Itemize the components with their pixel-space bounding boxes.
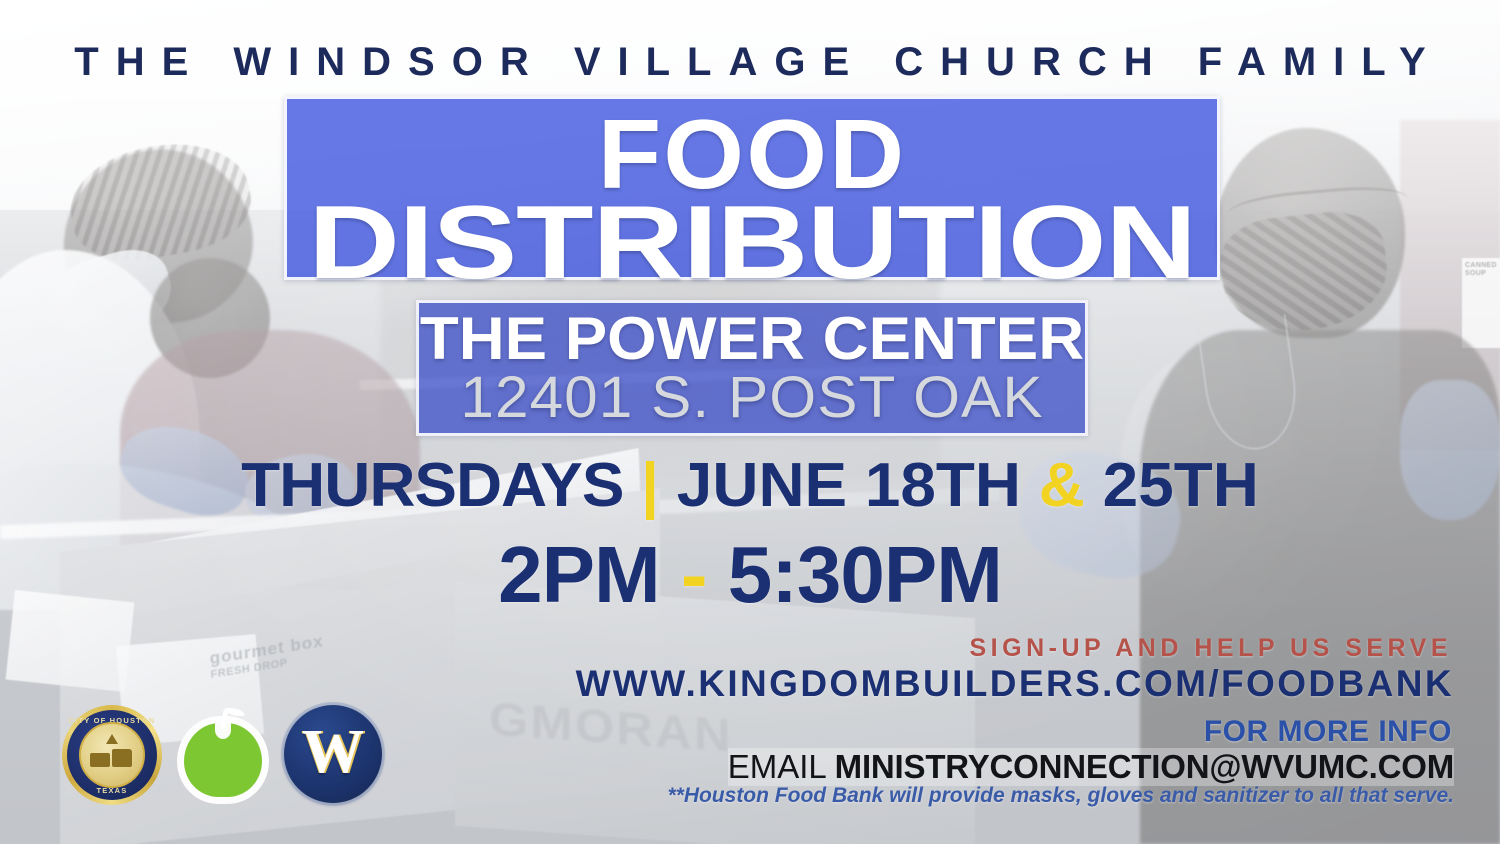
title-line-2: DISTRIBUTION bbox=[185, 191, 1320, 295]
food-distribution-flyer: CANNED SOUP gourmet box FRESH DROP GMORA… bbox=[0, 0, 1500, 844]
email-line[interactable]: EMAIL MINISTRYCONNECTION@WVUMC.COM bbox=[728, 748, 1454, 786]
email-label: EMAIL bbox=[728, 748, 826, 785]
date-ampersand: & bbox=[1039, 451, 1085, 520]
time-line: 2PM - 5:30PM bbox=[0, 535, 1500, 615]
logo-row: CITY OF HOUSTON TEXAS W bbox=[62, 705, 362, 810]
organization-kicker: THE WINDSOR VILLAGE CHURCH FAMILY bbox=[0, 40, 1500, 85]
main-title-panel: FOOD DISTRIBUTION bbox=[284, 96, 1220, 280]
seal-locomotive-icon bbox=[88, 749, 136, 771]
time-end: 5:30PM bbox=[728, 530, 1002, 619]
houston-food-bank-apple-icon bbox=[180, 705, 266, 805]
venue-panel: THE POWER CENTER 12401 S. POST OAK bbox=[416, 300, 1088, 436]
seal-star-icon bbox=[106, 734, 118, 744]
disclaimer-text: **Houston Food Bank will provide masks, … bbox=[667, 784, 1454, 808]
date-first: JUNE 18TH bbox=[677, 451, 1021, 520]
more-info-label: FOR MORE INFO bbox=[1204, 715, 1452, 749]
date-line: THURSDAYS | JUNE 18TH & 25TH bbox=[0, 455, 1500, 517]
venue-address: 12401 S. POST OAK bbox=[406, 369, 1099, 427]
w-monogram-letter: W bbox=[284, 705, 382, 803]
flyer-content: THE WINDSOR VILLAGE CHURCH FAMILY FOOD D… bbox=[0, 0, 1500, 844]
email-address[interactable]: MINISTRYCONNECTION@WVUMC.COM bbox=[835, 748, 1454, 785]
date-separator-icon: | bbox=[641, 451, 659, 520]
city-of-houston-seal-icon: CITY OF HOUSTON TEXAS bbox=[62, 705, 162, 805]
windsor-village-w-monogram-icon: W bbox=[284, 705, 382, 803]
website-url[interactable]: WWW.KINGDOMBUILDERS.COM/FOODBANK bbox=[576, 663, 1454, 705]
apple-leaf bbox=[225, 706, 244, 718]
venue-name: THE POWER CENTER bbox=[399, 309, 1105, 369]
signup-call-to-action: SIGN-UP AND HELP US SERVE bbox=[970, 634, 1453, 663]
date-second: 25TH bbox=[1103, 451, 1259, 520]
time-start: 2PM bbox=[498, 530, 660, 619]
date-day: THURSDAYS bbox=[241, 451, 623, 520]
time-separator-icon: - bbox=[681, 530, 707, 619]
